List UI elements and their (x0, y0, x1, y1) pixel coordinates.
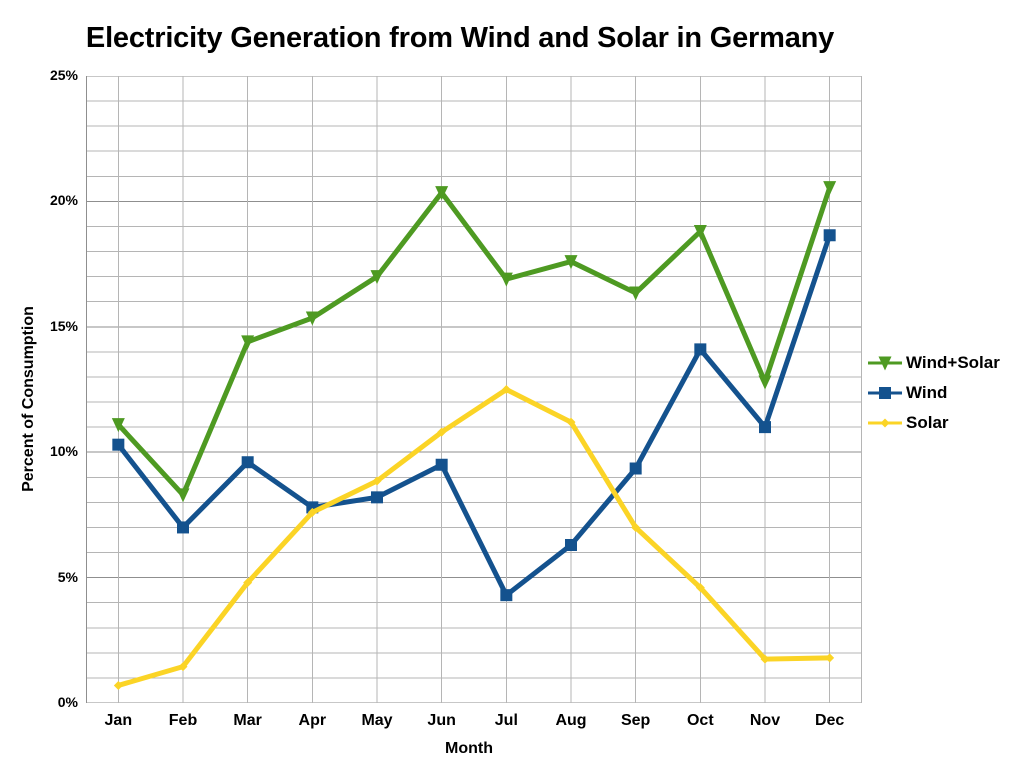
legend-item-wind[interactable]: Wind (868, 378, 1024, 408)
y-axis-title: Percent of Consumption (20, 249, 38, 549)
legend-item-label: Wind (906, 383, 947, 403)
series-solar (114, 385, 834, 690)
data-point-marker (694, 343, 706, 355)
plot-area (86, 76, 862, 703)
data-point-marker (630, 463, 642, 475)
data-point-marker (177, 488, 190, 502)
data-point-marker (565, 539, 577, 551)
y-axis-tick-label: 5% (0, 570, 78, 584)
data-point-marker (759, 375, 772, 389)
chart-title: Electricity Generation from Wind and Sol… (0, 22, 920, 55)
data-point-marker (436, 459, 448, 471)
chart-container: Electricity Generation from Wind and Sol… (0, 0, 1024, 768)
data-point-marker (825, 653, 834, 662)
data-point-marker (242, 456, 254, 468)
y-axis-tick-label: 0% (0, 695, 78, 709)
series-wind (112, 229, 835, 601)
data-point-marker (823, 181, 836, 195)
data-point-marker (759, 421, 771, 433)
y-axis-tick-label: 20% (0, 193, 78, 207)
data-series-group (112, 181, 836, 690)
legend-item-wind-plus-solar[interactable]: Wind+Solar (868, 348, 1024, 378)
data-point-marker (371, 491, 383, 503)
legend-item-solar[interactable]: Solar (868, 408, 1024, 438)
data-point-marker (500, 589, 512, 601)
data-point-marker (824, 229, 836, 241)
series-wind-plus-solar (112, 181, 836, 502)
legend-item-label: Solar (906, 413, 949, 433)
x-axis-title: Month (76, 740, 862, 758)
data-point-marker (112, 439, 124, 451)
data-point-marker (177, 521, 189, 533)
legend-marker-icon (868, 412, 902, 434)
y-axis-tick-label: 10% (0, 444, 78, 458)
plot-svg (86, 76, 862, 703)
y-axis-tick-label: 15% (0, 319, 78, 333)
legend-item-label: Wind+Solar (906, 353, 1000, 373)
y-axis-tick-label: 25% (0, 68, 78, 82)
legend: Wind+SolarWindSolar (868, 348, 1024, 438)
x-axis-tick-label-dec: Dec (790, 712, 870, 730)
legend-marker-icon (868, 352, 902, 374)
legend-marker-icon (868, 382, 902, 404)
grid-lines (86, 76, 862, 703)
